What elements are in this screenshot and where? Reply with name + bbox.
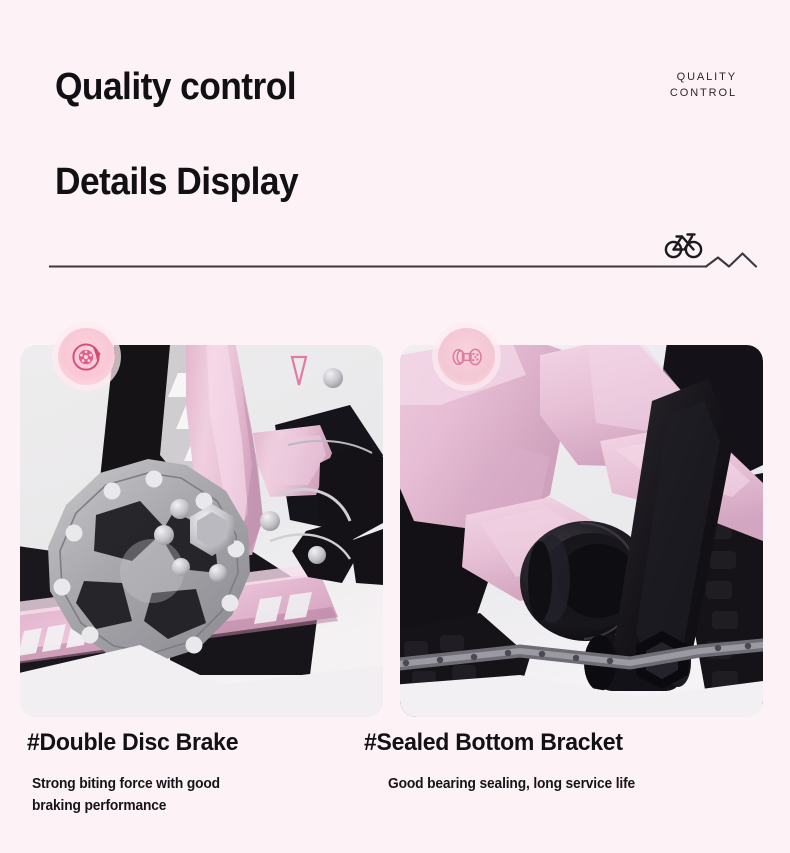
detail-cards <box>0 345 790 725</box>
disc-brake-photo <box>20 345 383 717</box>
mountain-zigzag-icon <box>706 254 756 267</box>
disc-brake-illustration <box>20 345 383 717</box>
eyebrow-line-1: QUALITY <box>670 70 737 86</box>
bottom-bracket-badge <box>438 328 495 385</box>
caption-desc-bottom-bracket: Good bearing sealing, long service life <box>388 774 702 796</box>
title-block: Quality control Details Display <box>55 68 316 201</box>
divider-graphic <box>0 225 790 285</box>
caption-disc-brake: #Double Disc Brake Strong biting force w… <box>27 730 377 818</box>
bottom-bracket-illustration <box>400 345 763 717</box>
bicycle-icon <box>666 235 701 258</box>
caption-title-bottom-bracket: #Sealed Bottom Bracket <box>364 730 744 756</box>
page-header: Quality control Details Display QUALITY … <box>0 0 790 290</box>
bottom-bracket-photo <box>400 345 763 717</box>
page-title: Quality control <box>55 68 298 106</box>
disc-brake-badge <box>58 328 115 385</box>
detail-card-disc-brake[interactable] <box>20 345 383 717</box>
product-detail-page: Quality control Details Display QUALITY … <box>0 0 790 853</box>
eyebrow-line-2: CONTROL <box>670 86 737 102</box>
eyebrow-label: QUALITY CONTROL <box>670 70 737 102</box>
caption-desc-disc-brake: Strong biting force with good braking pe… <box>32 774 270 818</box>
header-divider <box>0 225 790 285</box>
caption-title-disc-brake: #Double Disc Brake <box>27 730 363 756</box>
caption-bottom-bracket: #Sealed Bottom Bracket Good bearing seal… <box>360 730 760 796</box>
caption-row: #Double Disc Brake Strong biting force w… <box>0 730 790 853</box>
disc-brake-icon <box>70 340 104 374</box>
detail-card-bottom-bracket[interactable] <box>400 345 763 717</box>
bottom-bracket-icon <box>449 339 485 375</box>
page-subtitle: Details Display <box>55 163 298 201</box>
